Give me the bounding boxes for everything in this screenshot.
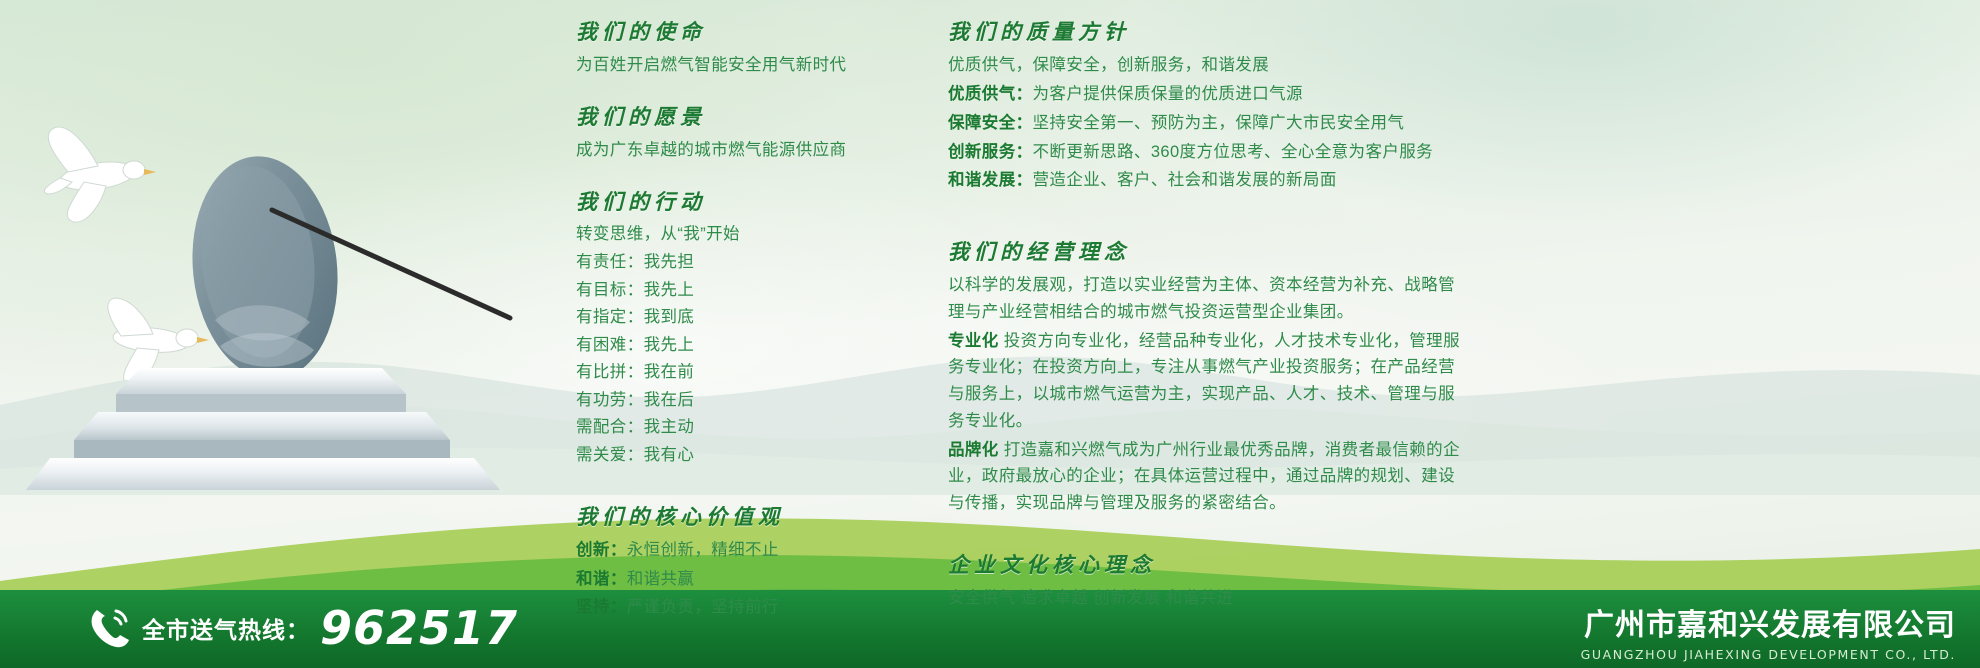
business-philosophy-title: 我们的经营理念: [948, 238, 1468, 266]
spacer: [948, 208, 1468, 238]
quality-policy-text: 坚持安全第一、预防为主，保障广大市民安全用气: [1033, 114, 1405, 132]
action-line: 有比拼：我在前: [576, 360, 906, 386]
business-philosophy-paragraph: 以科学的发展观，打造以实业经营为主体、资本经营为补充、战略管理与产业经营相结合的…: [948, 272, 1468, 325]
phone-icon: [86, 605, 132, 651]
action-line: 需配合：我主动: [576, 415, 906, 441]
left-text-column: 我们的使命 为百姓开启燃气智能安全用气新时代 我们的愿景 成为广东卓越的城市燃气…: [576, 18, 906, 623]
quality-policy-keyword: 优质供气: [948, 85, 1016, 103]
company-block: 广州市嘉和兴发展有限公司 GUANGZHOU JIAHEXING DEVELOP…: [1581, 608, 1956, 662]
spacer: [948, 531, 1468, 551]
culture-core-line: 安全供气 追求卓越 创新发展 和谐共进: [948, 585, 1468, 612]
core-value-separator: ：: [610, 541, 627, 559]
mission-block: 我们的使命 为百姓开启燃气智能安全用气新时代: [576, 18, 906, 79]
vision-block: 我们的愿景 成为广东卓越的城市燃气能源供应商: [576, 103, 906, 164]
quality-policy-text: 营造企业、客户、社会和谐发展的新局面: [1033, 171, 1337, 189]
core-value-separator: ：: [610, 570, 627, 588]
mission-title: 我们的使命: [576, 18, 906, 46]
action-line: 有责任：我先担: [576, 250, 906, 276]
quality-policy-item: 和谐发展：营造企业、客户、社会和谐发展的新局面: [948, 167, 1468, 194]
core-value-item: 创新：永恒创新，精细不止: [576, 537, 906, 564]
core-value-text: 和谐共赢: [627, 570, 695, 588]
quality-policy-title: 我们的质量方针: [948, 18, 1468, 46]
action-line: 有指定：我到底: [576, 305, 906, 331]
sundial-monument-illustration: [10, 150, 530, 490]
culture-core-title: 企业文化核心理念: [948, 551, 1468, 579]
action-line: 有困难：我先上: [576, 333, 906, 359]
company-name-en: GUANGZHOU JIAHEXING DEVELOPMENT CO., LTD…: [1581, 647, 1956, 662]
quality-policy-item: 创新服务：不断更新思路、360度方位思考、全心全意为客户服务: [948, 139, 1468, 166]
core-value-keyword: 和谐: [576, 570, 610, 588]
action-line: 有功劳：我在后: [576, 388, 906, 414]
business-philosophy-item: 专业化 投资方向专业化，经营品种专业化，人才技术专业化，管理服务专业化；在投资方…: [948, 328, 1468, 435]
quality-policy-item: 保障安全：坚持安全第一、预防为主，保障广大市民安全用气: [948, 110, 1468, 137]
spacer: [576, 483, 906, 503]
business-philosophy-text: 打造嘉和兴燃气成为广州行业最优秀品牌，消费者最信赖的企业，政府最放心的企业；在具…: [948, 441, 1460, 512]
spacer: [576, 178, 906, 188]
quality-policy-separator: ：: [1016, 85, 1033, 103]
action-line: 转变思维，从“我”开始: [576, 222, 906, 248]
business-philosophy-keyword: 品牌化: [948, 441, 999, 459]
company-name-cn: 广州市嘉和兴发展有限公司: [1581, 608, 1956, 644]
quality-policy-lead: 优质供气，保障安全，创新服务，和谐发展: [948, 52, 1468, 79]
hotline-label: 全市送气热线：: [142, 611, 310, 645]
quality-policy-block: 我们的质量方针 优质供气，保障安全，创新服务，和谐发展 优质供气：为客户提供保质…: [948, 18, 1468, 194]
quality-policy-keyword: 和谐发展: [948, 171, 1016, 189]
core-value-keyword: 坚持: [576, 598, 610, 616]
action-block: 我们的行动 转变思维，从“我”开始 有责任：我先担 有目标：我先上 有指定：我到…: [576, 188, 906, 468]
core-value-text: 严谨负责，坚持前行: [627, 598, 779, 616]
core-value-text: 永恒创新，精细不止: [627, 541, 779, 559]
mission-line: 为百姓开启燃气智能安全用气新时代: [576, 52, 906, 79]
hotline-block: 全市送气热线： 962517: [86, 596, 518, 660]
quality-policy-separator: ：: [1016, 114, 1033, 132]
business-philosophy-block: 我们的经营理念 以科学的发展观，打造以实业经营为主体、资本经营为补充、战略管理与…: [948, 238, 1468, 517]
business-philosophy-keyword: 专业化: [948, 332, 999, 350]
core-value-item: 和谐：和谐共赢: [576, 566, 906, 593]
business-philosophy-text: 投资方向专业化，经营品种专业化，人才技术专业化，管理服务专业化；在投资方向上，专…: [948, 332, 1460, 430]
action-line: 需关爱：我有心: [576, 443, 906, 469]
business-philosophy-item: 品牌化 打造嘉和兴燃气成为广州行业最优秀品牌，消费者最信赖的企业，政府最放心的企…: [948, 437, 1468, 517]
action-title: 我们的行动: [576, 188, 906, 216]
core-value-keyword: 创新: [576, 541, 610, 559]
spacer: [576, 93, 906, 103]
quality-policy-text: 为客户提供保质保量的优质进口气源: [1033, 85, 1303, 103]
right-text-column: 我们的质量方针 优质供气，保障安全，创新服务，和谐发展 优质供气：为客户提供保质…: [948, 18, 1468, 614]
core-values-title: 我们的核心价值观: [576, 503, 906, 531]
vision-line: 成为广东卓越的城市燃气能源供应商: [576, 137, 906, 164]
quality-policy-separator: ：: [1016, 143, 1033, 161]
core-value-separator: ：: [610, 598, 627, 616]
quality-policy-separator: ：: [1016, 171, 1033, 189]
action-line: 有目标：我先上: [576, 278, 906, 304]
core-values-block: 我们的核心价值观 创新：永恒创新，精细不止 和谐：和谐共赢 坚持：严谨负责，坚持…: [576, 503, 906, 622]
poster-canvas: 全市送气热线： 962517 广州市嘉和兴发展有限公司 GUANGZHOU JI…: [0, 0, 1980, 668]
hotline-number: 962517: [320, 605, 518, 651]
quality-policy-item: 优质供气：为客户提供保质保量的优质进口气源: [948, 81, 1468, 108]
quality-policy-keyword: 保障安全: [948, 114, 1016, 132]
core-value-item: 坚持：严谨负责，坚持前行: [576, 594, 906, 621]
quality-policy-text: 不断更新思路、360度方位思考、全心全意为客户服务: [1033, 143, 1434, 161]
vision-title: 我们的愿景: [576, 103, 906, 131]
quality-policy-keyword: 创新服务: [948, 143, 1016, 161]
culture-core-block: 企业文化核心理念 安全供气 追求卓越 创新发展 和谐共进: [948, 551, 1468, 612]
